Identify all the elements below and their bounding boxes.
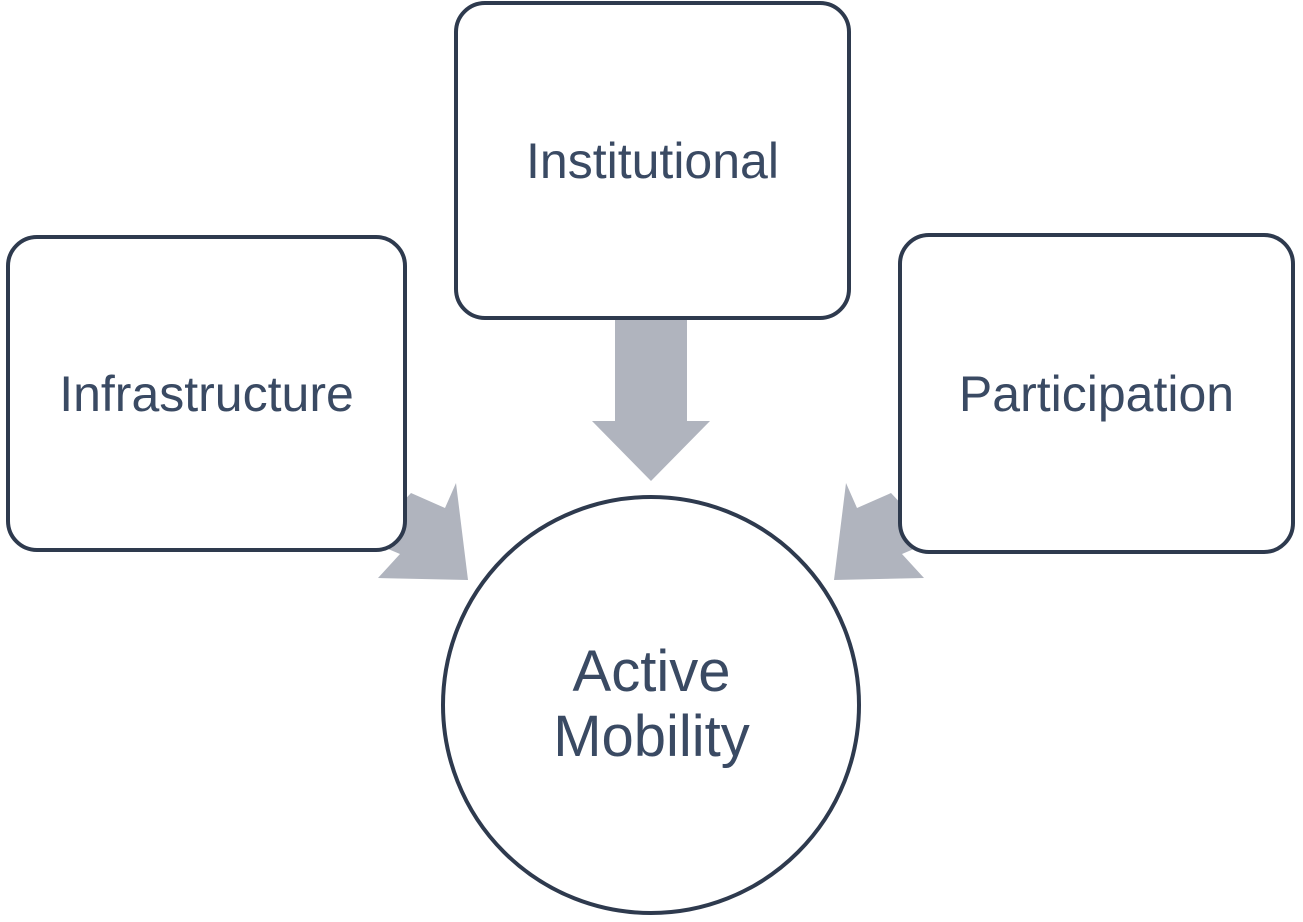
arrow-institutional-to-active-mobility <box>592 318 710 481</box>
node-box-participation[interactable] <box>900 235 1293 552</box>
node-box-institutional[interactable] <box>456 3 849 318</box>
diagram-svg <box>0 0 1303 922</box>
diagram-canvas: Infrastructure Institutional Participati… <box>0 0 1303 922</box>
node-circle-active-mobility[interactable] <box>443 497 859 913</box>
node-box-infrastructure[interactable] <box>8 237 405 550</box>
